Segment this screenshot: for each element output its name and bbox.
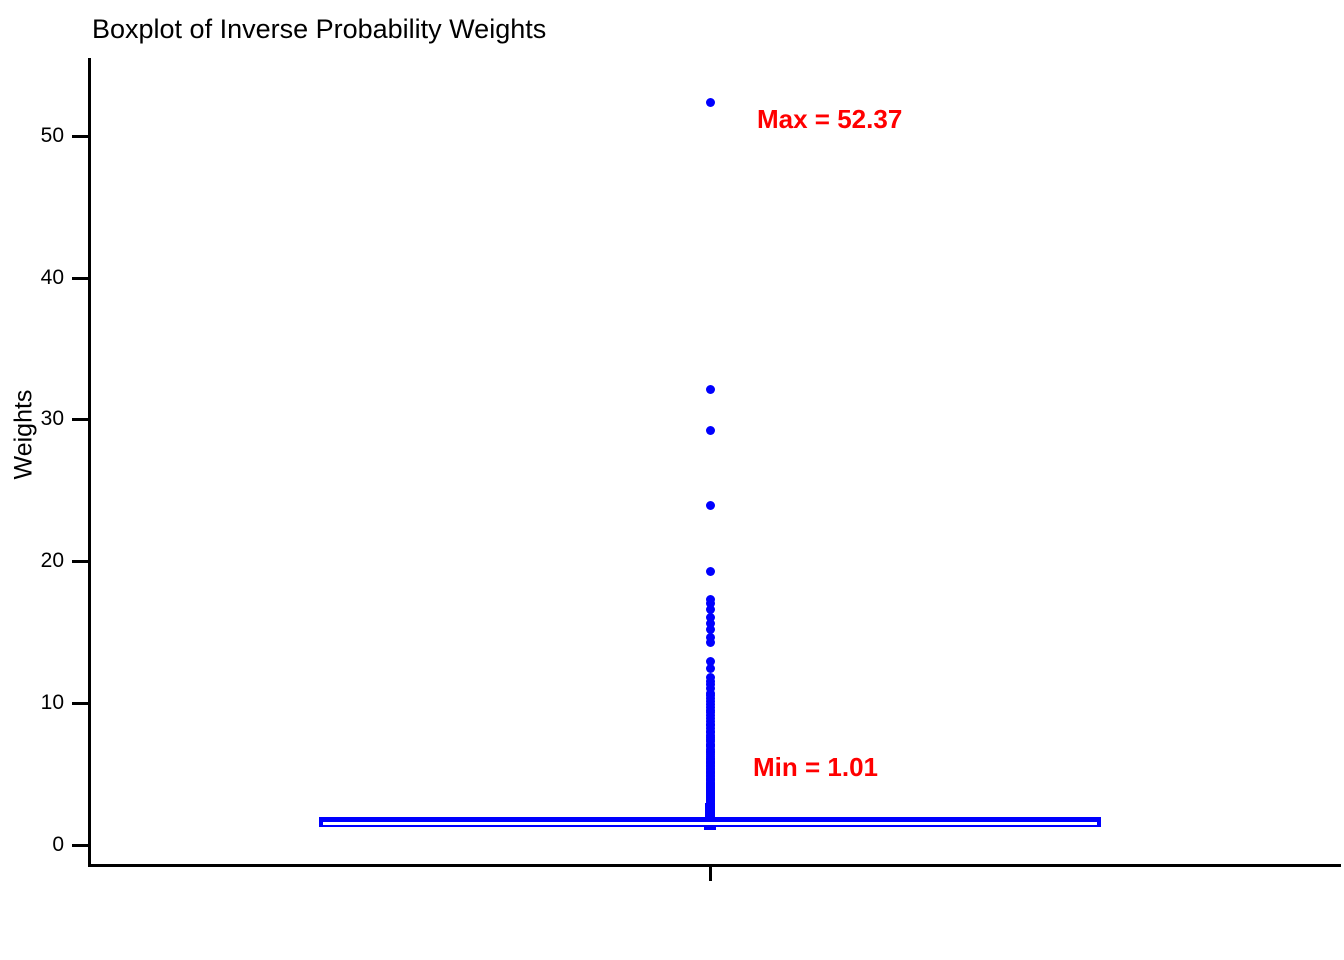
outlier-point (706, 385, 715, 394)
y-axis-line (88, 58, 91, 867)
y-tick-mark (72, 277, 88, 280)
outlier-point (706, 98, 715, 107)
median-line (323, 822, 1097, 825)
y-tick-label: 10 (4, 692, 64, 713)
outlier-point (706, 501, 715, 510)
outlier-point (706, 426, 715, 435)
outlier-point (706, 567, 715, 576)
y-tick-mark (72, 560, 88, 563)
y-tick-mark (72, 418, 88, 421)
y-tick-mark (72, 135, 88, 138)
lower-whisker (704, 827, 716, 830)
y-tick-label: 0 (4, 834, 64, 855)
min-annotation: Min = 1.01 (753, 752, 878, 783)
y-tick-label: 40 (4, 267, 64, 288)
y-axis-label: Weights (10, 375, 39, 495)
y-tick-mark (72, 844, 88, 847)
y-tick-label: 20 (4, 550, 64, 571)
y-tick-label: 30 (4, 408, 64, 429)
x-axis-tick (709, 867, 712, 881)
boxplot-figure: Boxplot of Inverse Probability Weights W… (0, 0, 1344, 960)
page-title: Boxplot of Inverse Probability Weights (92, 14, 546, 45)
y-tick-label: 50 (4, 125, 64, 146)
max-annotation: Max = 52.37 (757, 104, 902, 135)
x-axis-line (88, 864, 1341, 867)
outlier-point (706, 798, 715, 807)
outlier-point (706, 638, 715, 647)
y-tick-mark (72, 702, 88, 705)
